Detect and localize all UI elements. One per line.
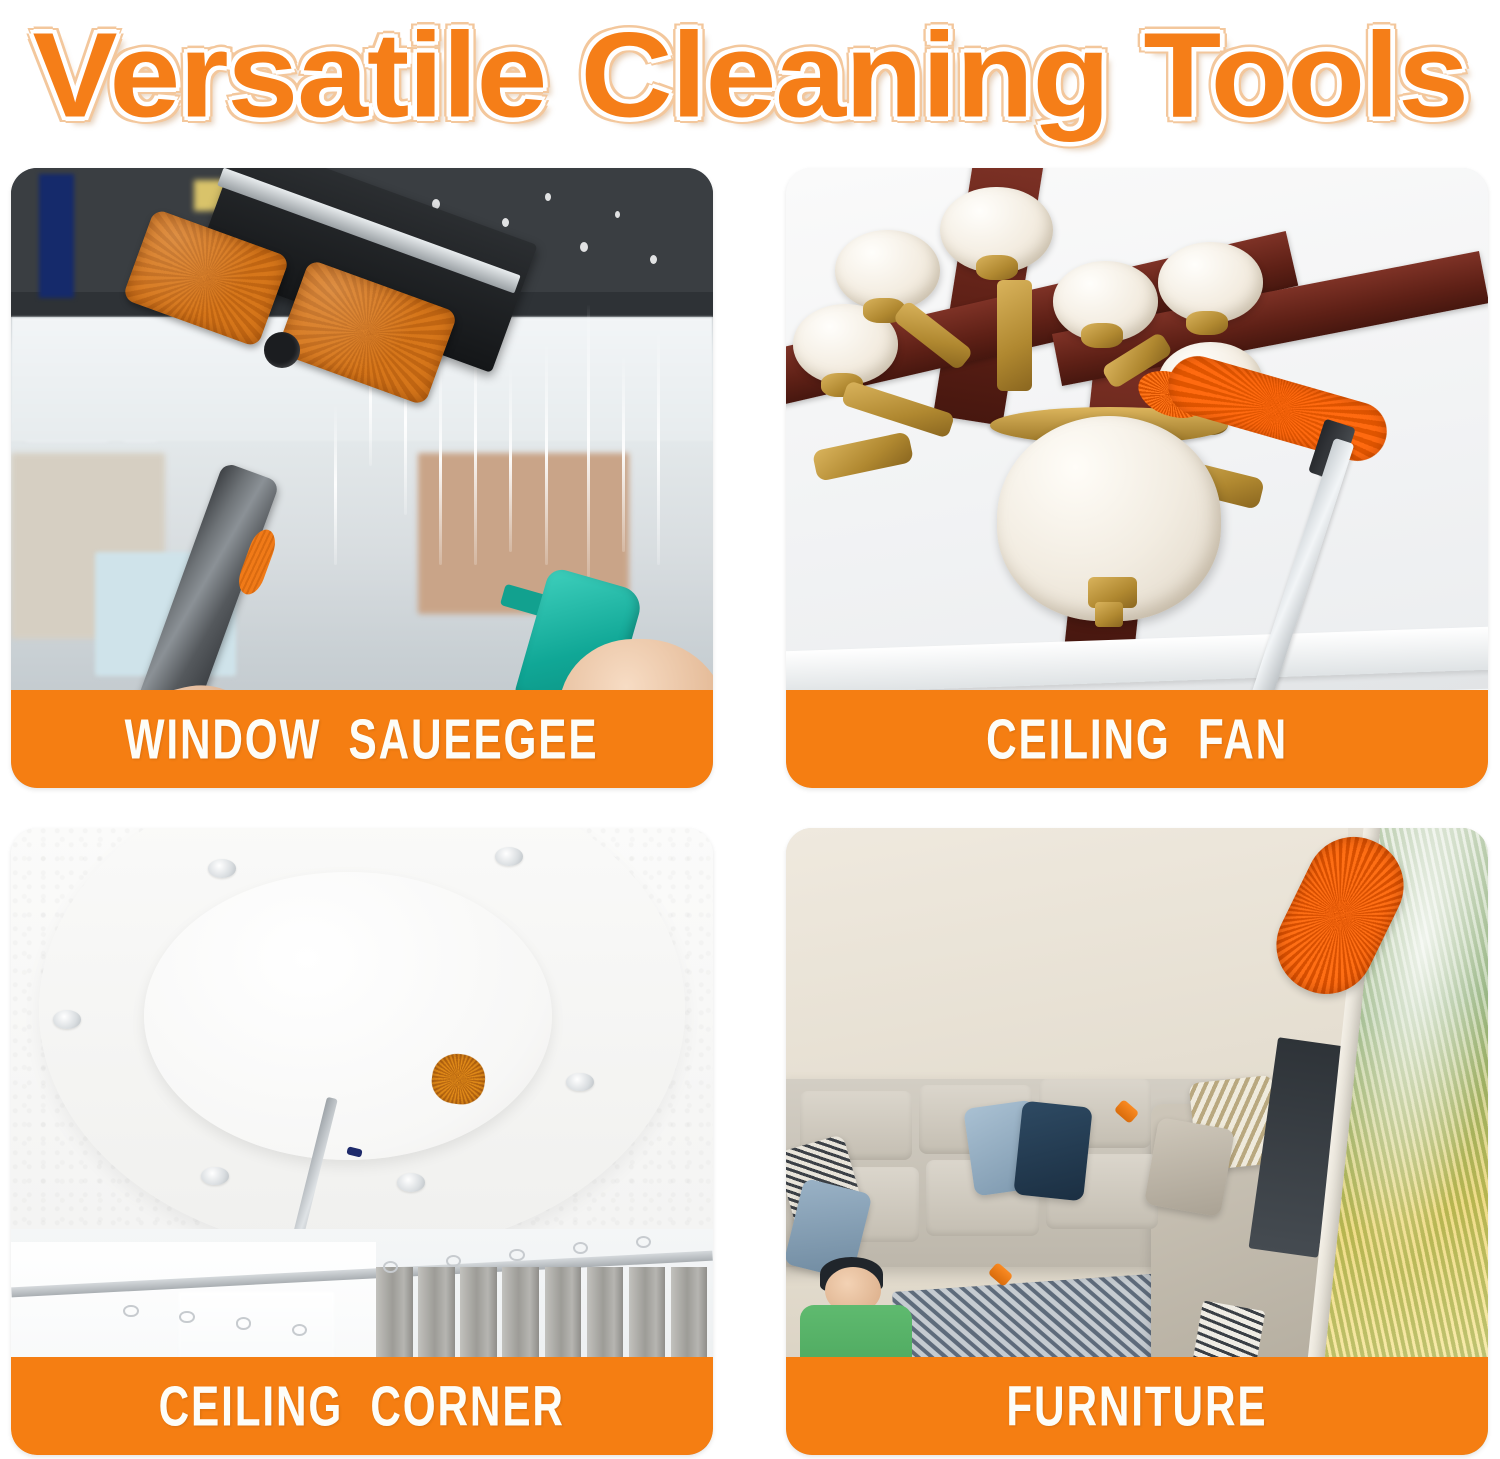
panel-window-squeegee[interactable]: WINDOW SAUEEGEE — [11, 168, 713, 788]
caption-bar-ceiling-fan: CEILING FAN — [786, 690, 1488, 788]
page-title: Versatile Cleaning Tools — [32, 12, 1467, 137]
caption-label-ceiling-corner: CEILING CORNER — [159, 1373, 565, 1439]
caption-label-ceiling-fan: CEILING FAN — [986, 706, 1288, 772]
panel-ceiling-fan[interactable]: CEILING FAN — [786, 168, 1488, 788]
panel-furniture[interactable]: FURNITURE — [786, 828, 1488, 1455]
panel-ceiling-corner[interactable]: CEILING CORNER — [11, 828, 713, 1455]
caption-label-furniture: FURNITURE — [1006, 1373, 1267, 1439]
page-header: Versatile Cleaning Tools — [0, 0, 1500, 150]
caption-bar-window-squeegee: WINDOW SAUEEGEE — [11, 690, 713, 788]
caption-label-window-squeegee: WINDOW SAUEEGEE — [125, 706, 599, 772]
caption-bar-furniture: FURNITURE — [786, 1357, 1488, 1455]
caption-bar-ceiling-corner: CEILING CORNER — [11, 1357, 713, 1455]
